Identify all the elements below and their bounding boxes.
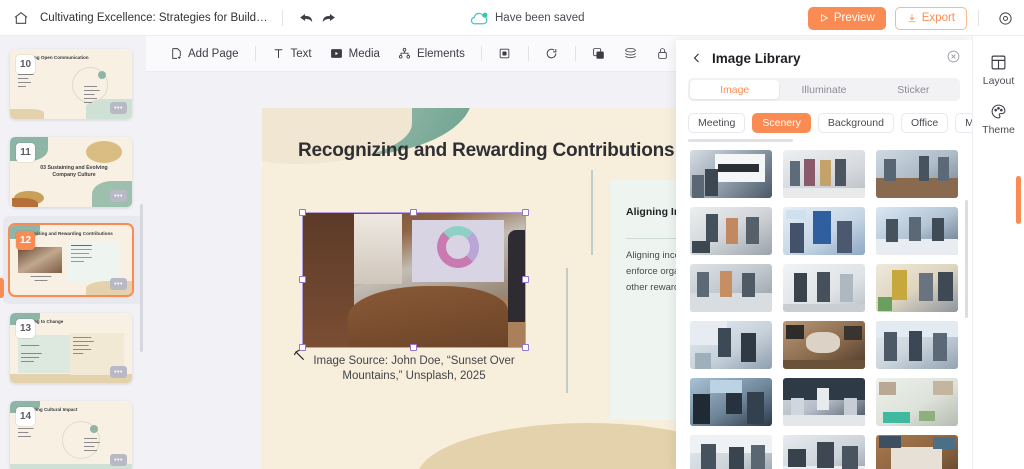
top-bar: Cultivating Excellence: Strategies for B… — [0, 0, 1024, 36]
slide-thumbnail-12[interactable]: ▬▬▬▬▬▬▬▬▬▬▬▬▬▬▬▬▬▬▬▬▬▬▬▬▬▬▬▬▬▬▬▬▬▬▬▬ ▬▬▬… — [10, 225, 132, 295]
slide-thumbnail-13[interactable]: ▬▬▬▬▬▬▬▬▬▬▬▬▬▬▬▬▬▬▬▬▬▬▬▬▬▬▬ ▬▬▬▬▬▬▬▬▬▬▬▬… — [10, 313, 132, 383]
rail-label-layout: Layout — [983, 75, 1015, 87]
library-image-1[interactable] — [783, 150, 865, 198]
library-image-6[interactable] — [690, 264, 772, 312]
chip-medical[interactable]: Medical — [955, 113, 972, 133]
presentation-editor-app: Cultivating Excellence: Strategies for B… — [0, 0, 1024, 469]
slide-thumb-row-selected[interactable]: ▬▬▬▬▬▬▬▬▬▬▬▬▬▬▬▬▬▬▬▬▬▬▬▬▬▬▬▬▬▬▬▬▬▬▬▬ ▬▬▬… — [3, 216, 143, 304]
library-image-15[interactable] — [690, 435, 772, 469]
slide-heading[interactable]: Recognizing and Rewarding Contributions — [298, 140, 698, 162]
lock-button[interactable] — [647, 44, 679, 64]
elements-button[interactable]: Elements — [389, 44, 474, 64]
slide-menu-icon[interactable]: ••• — [110, 190, 127, 202]
slide-thumb-title: ng to Change — [34, 319, 128, 325]
divider — [575, 46, 576, 61]
slide-number: 14 — [16, 407, 35, 426]
resize-handle-middle-right[interactable] — [522, 276, 529, 283]
media-button[interactable]: Media — [321, 44, 389, 64]
library-image-0[interactable] — [690, 150, 772, 198]
redo-arrow-icon[interactable] — [317, 7, 339, 29]
decorative-shape-bottom — [417, 423, 717, 469]
slide-thumb-row[interactable]: ▬▬▬▬▬▬▬▬▬▬▬▬▬▬▬▬▬▬▬▬▬▬▬▬▬▬▬ ▬▬▬▬▬▬▬▬▬▬▬▬… — [0, 304, 146, 392]
slide-thumb-title: ring Cultural Impact — [34, 407, 128, 413]
lock-icon — [656, 47, 670, 61]
slide-thumb-title: 03 Sustaining and Evolving Company Cultu… — [34, 165, 114, 178]
tab-sticker[interactable]: Sticker — [869, 80, 958, 99]
vertical-rule — [566, 268, 568, 393]
slide-number: 11 — [16, 143, 35, 162]
top-bar-actions: Preview Export — [808, 0, 1016, 36]
divider — [481, 46, 482, 61]
library-image-12[interactable] — [690, 378, 772, 426]
frame-icon — [498, 47, 512, 61]
media-icon — [330, 47, 344, 61]
image-source-caption[interactable]: Image Source: John Doe, “Sunset Over Mou… — [302, 354, 526, 383]
divider — [978, 10, 979, 26]
frame-button[interactable] — [489, 44, 521, 64]
resize-handle-bottom-center[interactable] — [410, 344, 417, 351]
chip-meeting[interactable]: Meeting — [688, 113, 745, 133]
layers-button[interactable] — [615, 44, 647, 64]
library-image-10[interactable] — [783, 321, 865, 369]
undo-arrow-icon[interactable] — [295, 7, 317, 29]
rail-item-layout[interactable]: Layout — [983, 54, 1015, 87]
palette-icon — [990, 103, 1007, 120]
divider — [255, 46, 256, 61]
home-icon[interactable] — [12, 9, 30, 27]
slide-menu-icon[interactable]: ••• — [110, 366, 127, 378]
elements-label: Elements — [417, 48, 465, 60]
slide-thumbnail-11[interactable]: 11 03 Sustaining and Evolving Company Cu… — [10, 137, 132, 207]
duplicate-button[interactable] — [583, 44, 615, 64]
layers-icon — [624, 47, 638, 61]
library-image-9[interactable] — [690, 321, 772, 369]
export-button[interactable]: Export — [895, 7, 967, 30]
rail-item-theme[interactable]: Theme — [982, 103, 1015, 136]
text-button[interactable]: Text — [263, 44, 321, 64]
slide-menu-icon[interactable]: ••• — [110, 278, 127, 290]
library-title: Image Library — [712, 51, 801, 66]
rail-label-theme: Theme — [982, 124, 1015, 136]
chip-office[interactable]: Office — [901, 113, 948, 133]
slide-thumbnail-panel[interactable]: 10 ng Open Communication ▬▬▬▬▬▬▬▬▬▬▬▬▬▬▬… — [0, 36, 146, 469]
layout-icon — [990, 54, 1007, 71]
media-label: Media — [349, 48, 380, 60]
slide-thumb-row[interactable]: ▬▬▬▬▬▬▬▬▬▬▬▬▬▬▬▬▬▬▬▬ ▬▬▬▬▬▬▬▬▬▬▬▬▬▬▬▬▬▬▬… — [0, 392, 146, 469]
document-title[interactable]: Cultivating Excellence: Strategies for B… — [40, 12, 270, 24]
library-image-13[interactable] — [783, 378, 865, 426]
rotate-icon — [545, 47, 559, 61]
slide-number: 12 — [16, 231, 35, 250]
play-icon — [819, 13, 829, 23]
rotate-button[interactable] — [536, 44, 568, 64]
close-circle-icon[interactable] — [947, 50, 960, 63]
text-label: Text — [291, 48, 312, 60]
library-image-7[interactable] — [783, 264, 865, 312]
download-icon — [907, 13, 917, 23]
slide-number: 10 — [16, 55, 35, 74]
resize-handle-top-left[interactable] — [299, 209, 306, 216]
slide-menu-icon[interactable]: ••• — [110, 454, 127, 466]
library-image-3[interactable] — [690, 207, 772, 255]
library-image-11[interactable] — [876, 321, 958, 369]
image-selection-box[interactable] — [302, 212, 526, 348]
slide-thumbnail-14[interactable]: ▬▬▬▬▬▬▬▬▬▬▬▬▬▬▬▬▬▬▬▬ ▬▬▬▬▬▬▬▬▬▬▬▬▬▬▬▬▬▬▬… — [10, 401, 132, 469]
duplicate-icon — [592, 47, 606, 61]
slide-thumb-row[interactable]: 11 03 Sustaining and Evolving Company Cu… — [0, 128, 146, 216]
slide-thumb-title: nizing and Rewarding Contributions — [34, 231, 128, 237]
library-scrollbar[interactable] — [965, 200, 968, 318]
library-image-16[interactable] — [783, 435, 865, 469]
sidebar-scrollbar[interactable] — [140, 204, 143, 352]
preview-button[interactable]: Preview — [808, 7, 886, 30]
chevron-left-icon[interactable] — [690, 51, 704, 65]
chip-scenery[interactable]: Scenery — [752, 113, 811, 133]
add-page-button[interactable]: Add Page — [160, 44, 248, 64]
vertical-rule — [591, 170, 593, 255]
chip-background[interactable]: Background — [818, 113, 894, 133]
right-rail: Layout Theme — [972, 36, 1024, 469]
category-scroll-indicator[interactable] — [688, 139, 793, 142]
resize-handle-top-right[interactable] — [522, 209, 529, 216]
text-icon — [272, 47, 286, 61]
divider — [282, 10, 283, 26]
save-status-group: Have been saved — [470, 0, 585, 36]
category-chip-row[interactable]: Meeting Scenery Background Office Medica… — [688, 113, 972, 133]
gear-icon[interactable] — [994, 7, 1016, 29]
resize-handle-top-center[interactable] — [410, 209, 417, 216]
tab-illuminate[interactable]: Illuminate — [779, 80, 868, 99]
divider — [528, 46, 529, 61]
library-tabs[interactable]: Image Illuminate Sticker — [688, 78, 960, 101]
library-image-8[interactable] — [876, 264, 958, 312]
add-page-label: Add Page — [188, 48, 239, 60]
slide-thumb-row[interactable]: 10 ng Open Communication ▬▬▬▬▬▬▬▬▬▬▬▬▬▬▬… — [0, 40, 146, 128]
library-image-17[interactable] — [876, 435, 958, 469]
tab-image[interactable]: Image — [690, 80, 779, 99]
cloud-check-icon — [470, 11, 488, 26]
library-image-14[interactable] — [876, 378, 958, 426]
slide-menu-icon[interactable]: ••• — [110, 102, 127, 114]
export-button-label: Export — [922, 12, 955, 24]
slide-number: 13 — [16, 319, 35, 338]
slide-thumb-title: ng Open Communication — [34, 55, 128, 61]
slide-canvas[interactable]: Recognizing and Rewarding Contributions … — [262, 108, 717, 469]
image-library-panel[interactable]: Image Library Image Illuminate Sticker M… — [676, 40, 972, 469]
image-results-grid[interactable] — [676, 150, 972, 469]
rail-scrollbar[interactable] — [1016, 176, 1021, 224]
add-page-icon — [169, 47, 183, 61]
slide-thumbnail-10[interactable]: 10 ng Open Communication ▬▬▬▬▬▬▬▬▬▬▬▬▬▬▬… — [10, 49, 132, 119]
library-image-4[interactable] — [783, 207, 865, 255]
library-header: Image Library — [676, 40, 972, 76]
library-image-5[interactable] — [876, 207, 958, 255]
preview-button-label: Preview — [834, 12, 875, 24]
resize-handle-bottom-right[interactable] — [522, 344, 529, 351]
sidebar-collapse-handle[interactable] — [0, 278, 4, 298]
save-status-text: Have been saved — [495, 12, 585, 24]
resize-handle-middle-left[interactable] — [299, 276, 306, 283]
library-image-2[interactable] — [876, 150, 958, 198]
elements-icon — [398, 47, 412, 61]
